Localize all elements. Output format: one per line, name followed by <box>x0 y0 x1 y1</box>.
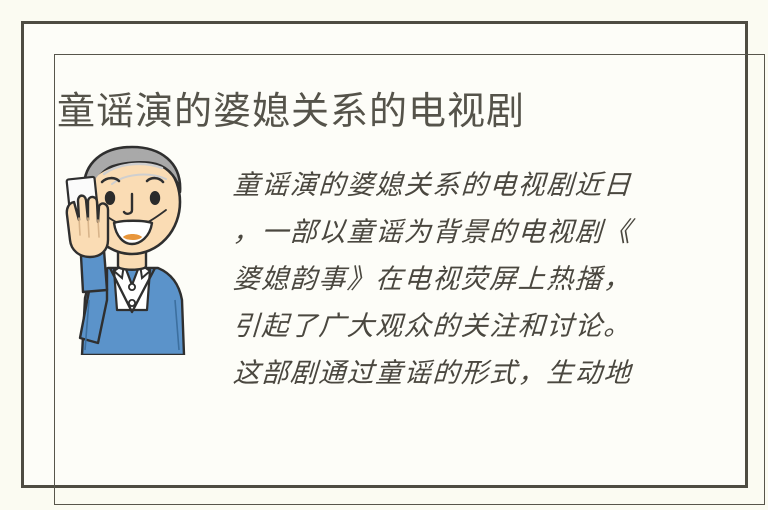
article-line: 童谣演的婆媳关系的电视剧近日 <box>232 162 644 209</box>
article-content: 童谣演的婆媳关系的电视剧近日 ，一部以童谣为背景的电视剧《 婆媳韵事》在电视荧屏… <box>0 140 768 400</box>
page-title: 童谣演的婆媳关系的电视剧 <box>57 89 525 135</box>
page-root: 童谣演的婆媳关系的电视剧 <box>0 0 768 510</box>
article-line: 婆媳韵事》在电视荧屏上热播， <box>232 256 644 303</box>
hand-shape <box>67 196 108 257</box>
article-line: ，一部以童谣为背景的电视剧《 <box>232 209 644 256</box>
article-body: 童谣演的婆媳关系的电视剧近日 ，一部以童谣为背景的电视剧《 婆媳韵事》在电视荧屏… <box>233 162 643 397</box>
article-line: 这部剧通过童谣的形式，生动地 <box>232 350 644 397</box>
article-line: 引起了广大观众的关注和讨论。 <box>232 303 644 350</box>
illustration-elderly-man-on-phone <box>52 140 212 355</box>
